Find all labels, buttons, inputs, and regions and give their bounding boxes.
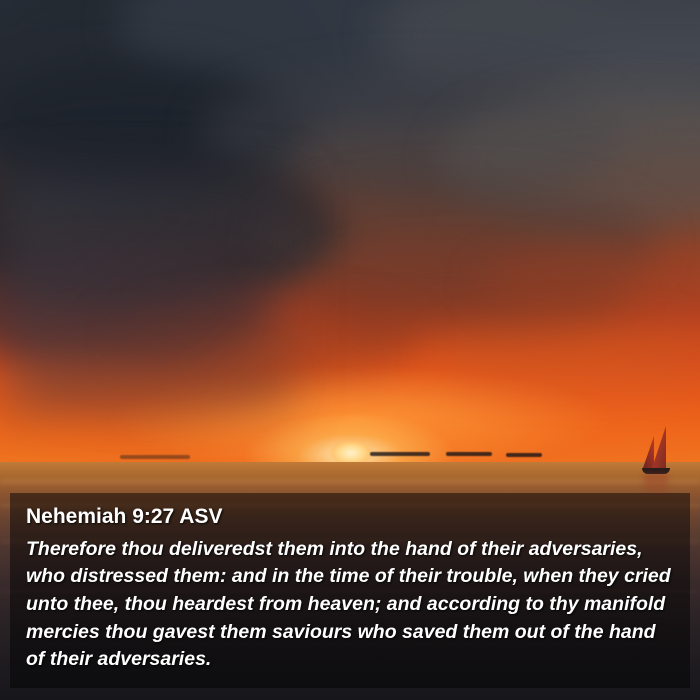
verse-image: Nehemiah 9:27 ASV Therefore thou deliver… bbox=[0, 0, 700, 700]
horizon-land-strip bbox=[370, 452, 430, 456]
verse-text: Therefore thou deliveredst them into the… bbox=[26, 536, 676, 674]
horizon-land-strip bbox=[506, 453, 542, 457]
jib-sail bbox=[643, 436, 654, 468]
verse-reference: Nehemiah 9:27 ASV bbox=[26, 505, 676, 529]
verse-caption-overlay: Nehemiah 9:27 ASV Therefore thou deliver… bbox=[10, 493, 690, 688]
rain-haze bbox=[0, 170, 300, 420]
main-sail bbox=[652, 426, 666, 468]
sailboat bbox=[640, 424, 700, 494]
horizon-land-strip bbox=[120, 455, 190, 459]
horizon-land-strip bbox=[446, 452, 492, 456]
